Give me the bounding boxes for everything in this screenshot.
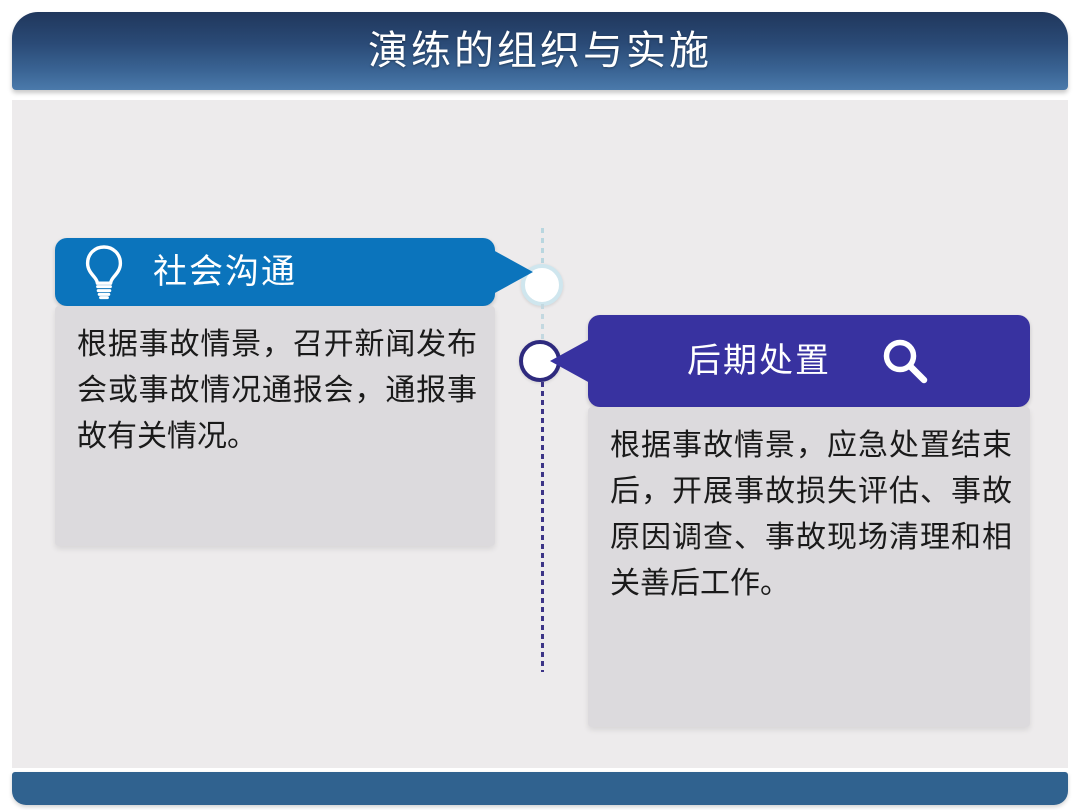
timeline-segment-bottom bbox=[541, 382, 544, 672]
card-pointer-right-icon bbox=[493, 250, 533, 294]
slide-footer bbox=[12, 772, 1068, 805]
slide: 演练的组织与实施 社会沟通 根据事故情景，召开新闻发布会或事故情况通报会，通报事… bbox=[0, 0, 1080, 810]
card-pointer-left-icon bbox=[550, 339, 590, 383]
card-title-post-incident-handling: 后期处置 bbox=[687, 344, 831, 378]
card-header-post-incident-handling[interactable]: 后期处置 bbox=[588, 315, 1030, 407]
card-title-social-communication: 社会沟通 bbox=[153, 255, 297, 289]
card-text-social-communication: 根据事故情景，召开新闻发布会或事故情况通报会，通报事故有关情况。 bbox=[77, 322, 477, 460]
page-title: 演练的组织与实施 bbox=[368, 31, 712, 71]
card-text-post-incident-handling: 根据事故情景，应急处置结束后，开展事故损失评估、事故原因调查、事故现场清理和相关… bbox=[610, 423, 1012, 607]
card-header-social-communication[interactable]: 社会沟通 bbox=[55, 238, 495, 306]
lightbulb-icon bbox=[81, 244, 127, 300]
slide-header: 演练的组织与实施 bbox=[12, 12, 1068, 90]
search-icon bbox=[879, 335, 931, 387]
card-body-post-incident-handling: 根据事故情景，应急处置结束后，开展事故损失评估、事故原因调查、事故现场清理和相关… bbox=[588, 407, 1030, 727]
card-body-social-communication: 根据事故情景，召开新闻发布会或事故情况通报会，通报事故有关情况。 bbox=[55, 306, 495, 546]
